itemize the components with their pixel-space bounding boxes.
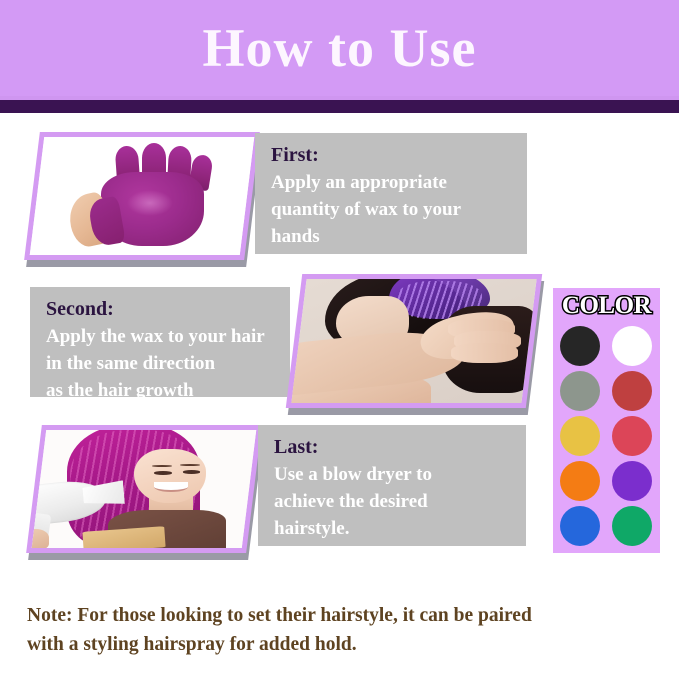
step-1-label: First: xyxy=(271,142,527,168)
color-swatch-black[interactable] xyxy=(560,326,600,366)
step-2-photo-frame xyxy=(286,274,542,408)
header-dark-bar xyxy=(0,100,679,113)
step-3-photo-frame xyxy=(26,425,262,553)
footer-note: Note: For those looking to set their hai… xyxy=(27,601,647,659)
color-panel-title: COLOR xyxy=(553,292,660,320)
step-2-text-panel: Second: Apply the wax to your hair in th… xyxy=(30,287,290,397)
color-swatch-brick-red[interactable] xyxy=(612,371,652,411)
header-banner: How to Use xyxy=(0,0,679,100)
hand-with-wax-illustration xyxy=(30,137,254,255)
how-to-use-infographic: How to Use First: Apply an appropriat xyxy=(0,0,679,679)
step-1-photo-frame xyxy=(24,132,260,260)
color-swatch-orange[interactable] xyxy=(560,461,600,501)
step-2-label: Second: xyxy=(46,296,290,322)
color-swatch-green[interactable] xyxy=(612,506,652,546)
color-swatch-yellow[interactable] xyxy=(560,416,600,456)
step-3-body: Use a blow dryer to achieve the desired … xyxy=(274,461,526,542)
step-1-body: Apply an appropriate quantity of wax to … xyxy=(271,169,527,250)
step-3-text-panel: Last: Use a blow dryer to achieve the de… xyxy=(258,425,526,546)
color-swatch-rose-red[interactable] xyxy=(612,416,652,456)
color-swatch-blue[interactable] xyxy=(560,506,600,546)
blow-dryer-illustration xyxy=(32,430,256,548)
color-swatch-panel: COLOR xyxy=(553,288,660,553)
step-1-text-panel: First: Apply an appropriate quantity of … xyxy=(255,133,527,254)
color-swatch-grid[interactable] xyxy=(559,326,655,547)
color-swatch-gray[interactable] xyxy=(560,371,600,411)
applying-wax-illustration xyxy=(291,279,536,403)
color-swatch-purple[interactable] xyxy=(612,461,652,501)
color-swatch-white[interactable] xyxy=(612,326,652,366)
step-3-label: Last: xyxy=(274,434,526,460)
page-title: How to Use xyxy=(0,18,679,78)
step-2-body: Apply the wax to your hair in the same d… xyxy=(46,323,290,404)
